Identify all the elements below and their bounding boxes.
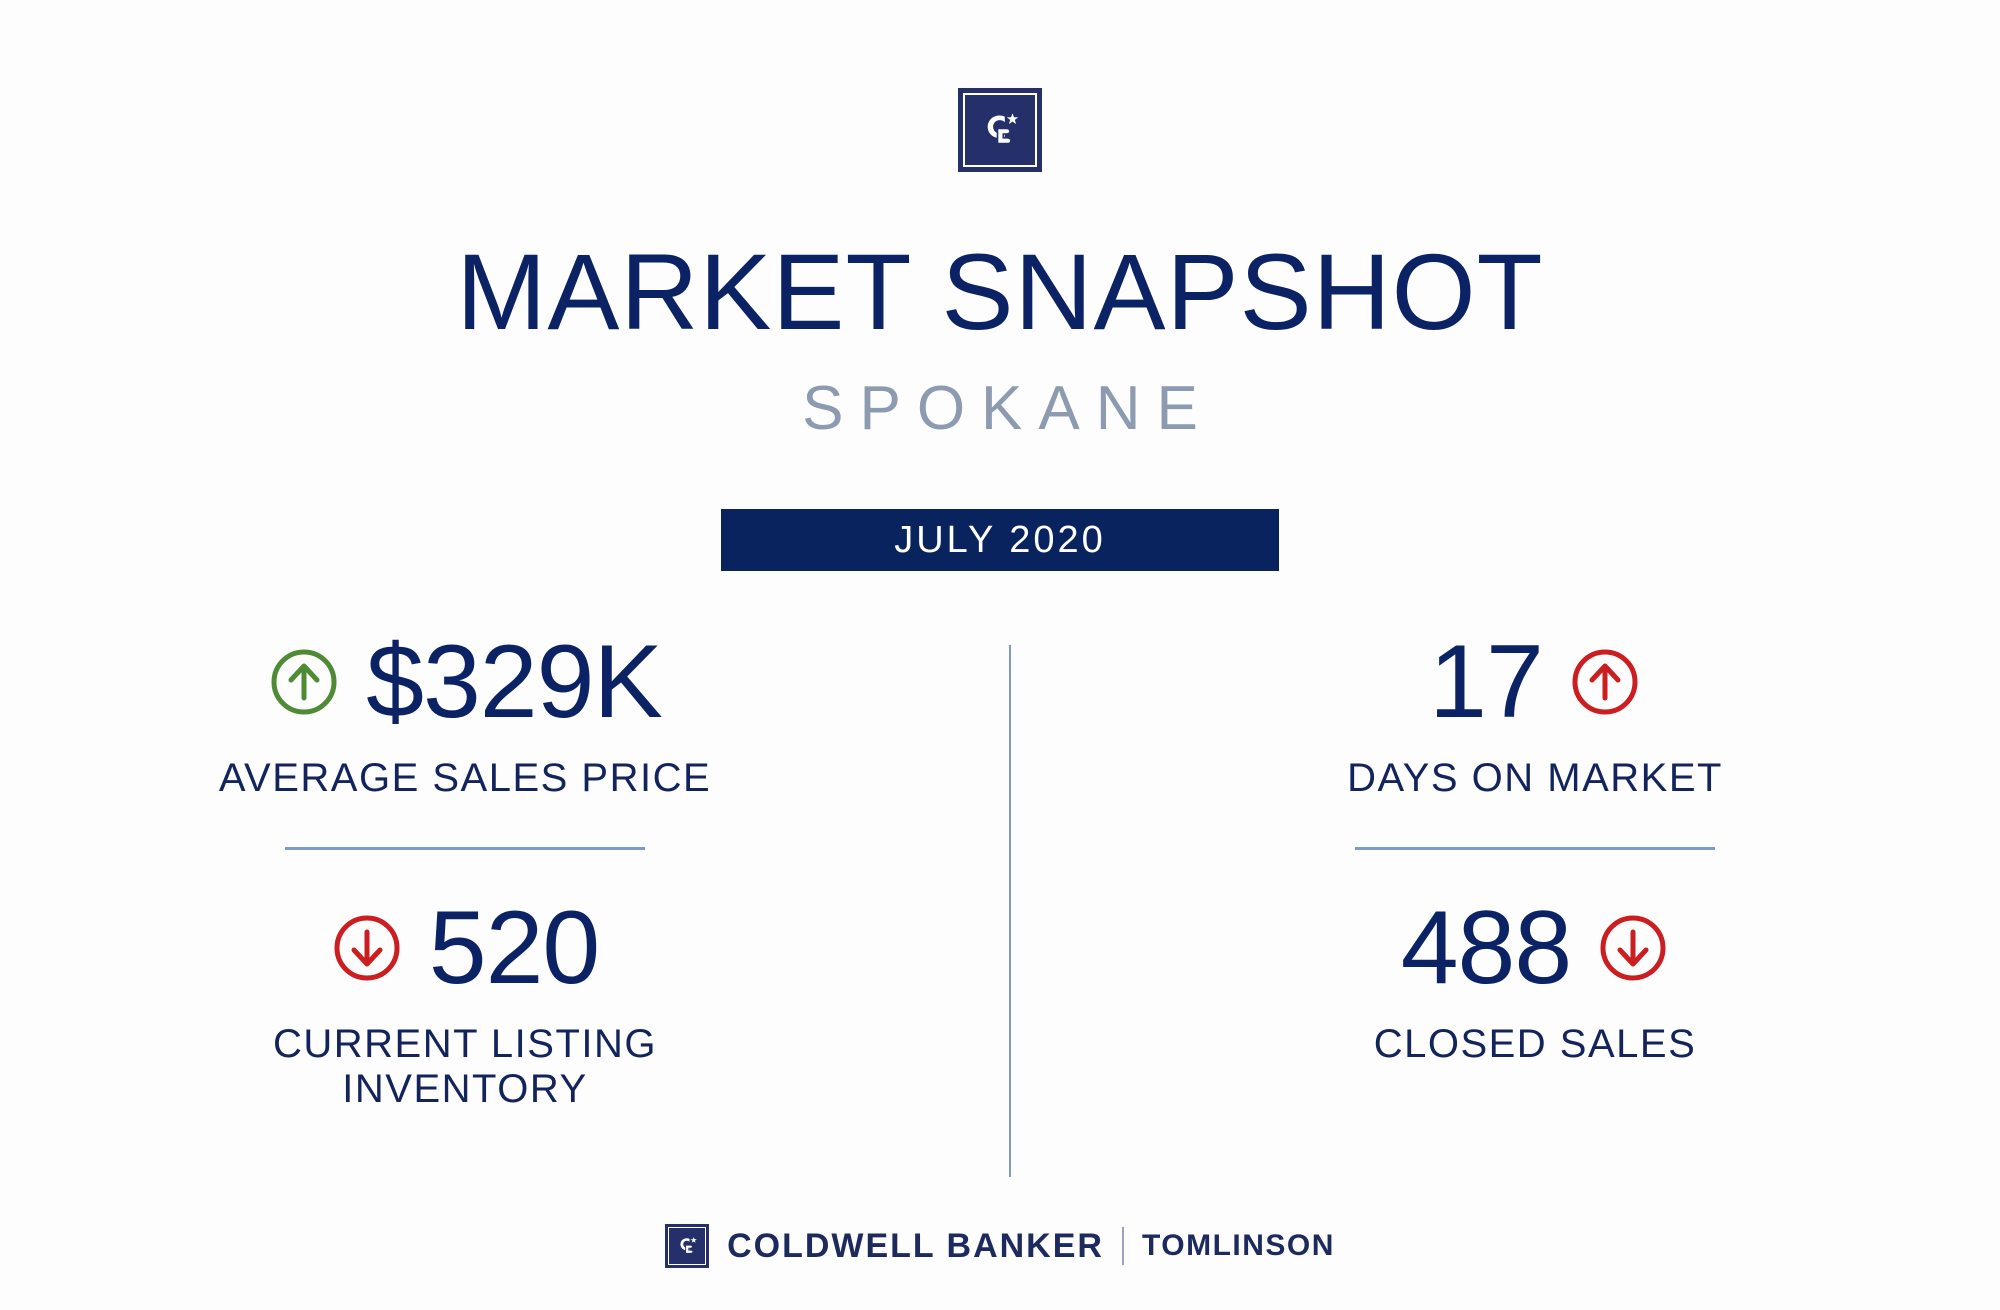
stats-grid: $329K AVERAGE SALES PRICE 520 C	[0, 630, 2000, 1190]
footer-brand-name: COLDWELL BANKER	[727, 1229, 1104, 1263]
stats-column-right: 17 DAYS ON MARKET 488	[1000, 630, 2000, 1190]
coldwell-banker-logo-icon	[665, 1224, 709, 1268]
stat-value: 17	[1429, 630, 1543, 734]
stat-label: CURRENT LISTING INVENTORY	[273, 1022, 657, 1112]
stat-divider-left	[285, 847, 645, 850]
footer-brand-lockup: COLDWELL BANKER TOMLINSON	[0, 1224, 2000, 1268]
stat-current-listing-inventory: 520 CURRENT LISTING INVENTORY	[273, 896, 657, 1112]
stat-label: AVERAGE SALES PRICE	[219, 756, 711, 801]
stats-column-left: $329K AVERAGE SALES PRICE 520 C	[0, 630, 1000, 1190]
coldwell-banker-logo-icon	[958, 88, 1042, 172]
stat-closed-sales: 488 CLOSED SALES	[1374, 896, 1697, 1067]
arrow-down-circle-icon	[331, 912, 403, 984]
stat-value: $329K	[366, 630, 662, 734]
date-banner: JULY 2020	[0, 509, 2000, 571]
date-banner-label: JULY 2020	[894, 521, 1106, 559]
market-snapshot-infographic: MARKET SNAPSHOT SPOKANE JULY 2020	[0, 0, 2000, 1310]
stat-value: 488	[1401, 896, 1572, 1000]
footer-affiliate-name: TOMLINSON	[1142, 1231, 1335, 1261]
stat-value: 520	[429, 896, 600, 1000]
stat-days-on-market: 17 DAYS ON MARKET	[1347, 630, 1723, 801]
page-subtitle-market: SPOKANE	[0, 378, 2000, 440]
arrow-up-circle-icon	[268, 646, 340, 718]
footer-separator	[1122, 1227, 1124, 1265]
stat-divider-right	[1355, 847, 1715, 850]
arrow-down-circle-icon	[1597, 912, 1669, 984]
arrow-up-circle-icon	[1569, 646, 1641, 718]
stat-label: CLOSED SALES	[1374, 1022, 1697, 1067]
stat-average-sales-price: $329K AVERAGE SALES PRICE	[219, 630, 711, 801]
stat-label: DAYS ON MARKET	[1347, 756, 1723, 801]
header-logo	[0, 88, 2000, 172]
page-title: MARKET SNAPSHOT	[0, 238, 2000, 346]
